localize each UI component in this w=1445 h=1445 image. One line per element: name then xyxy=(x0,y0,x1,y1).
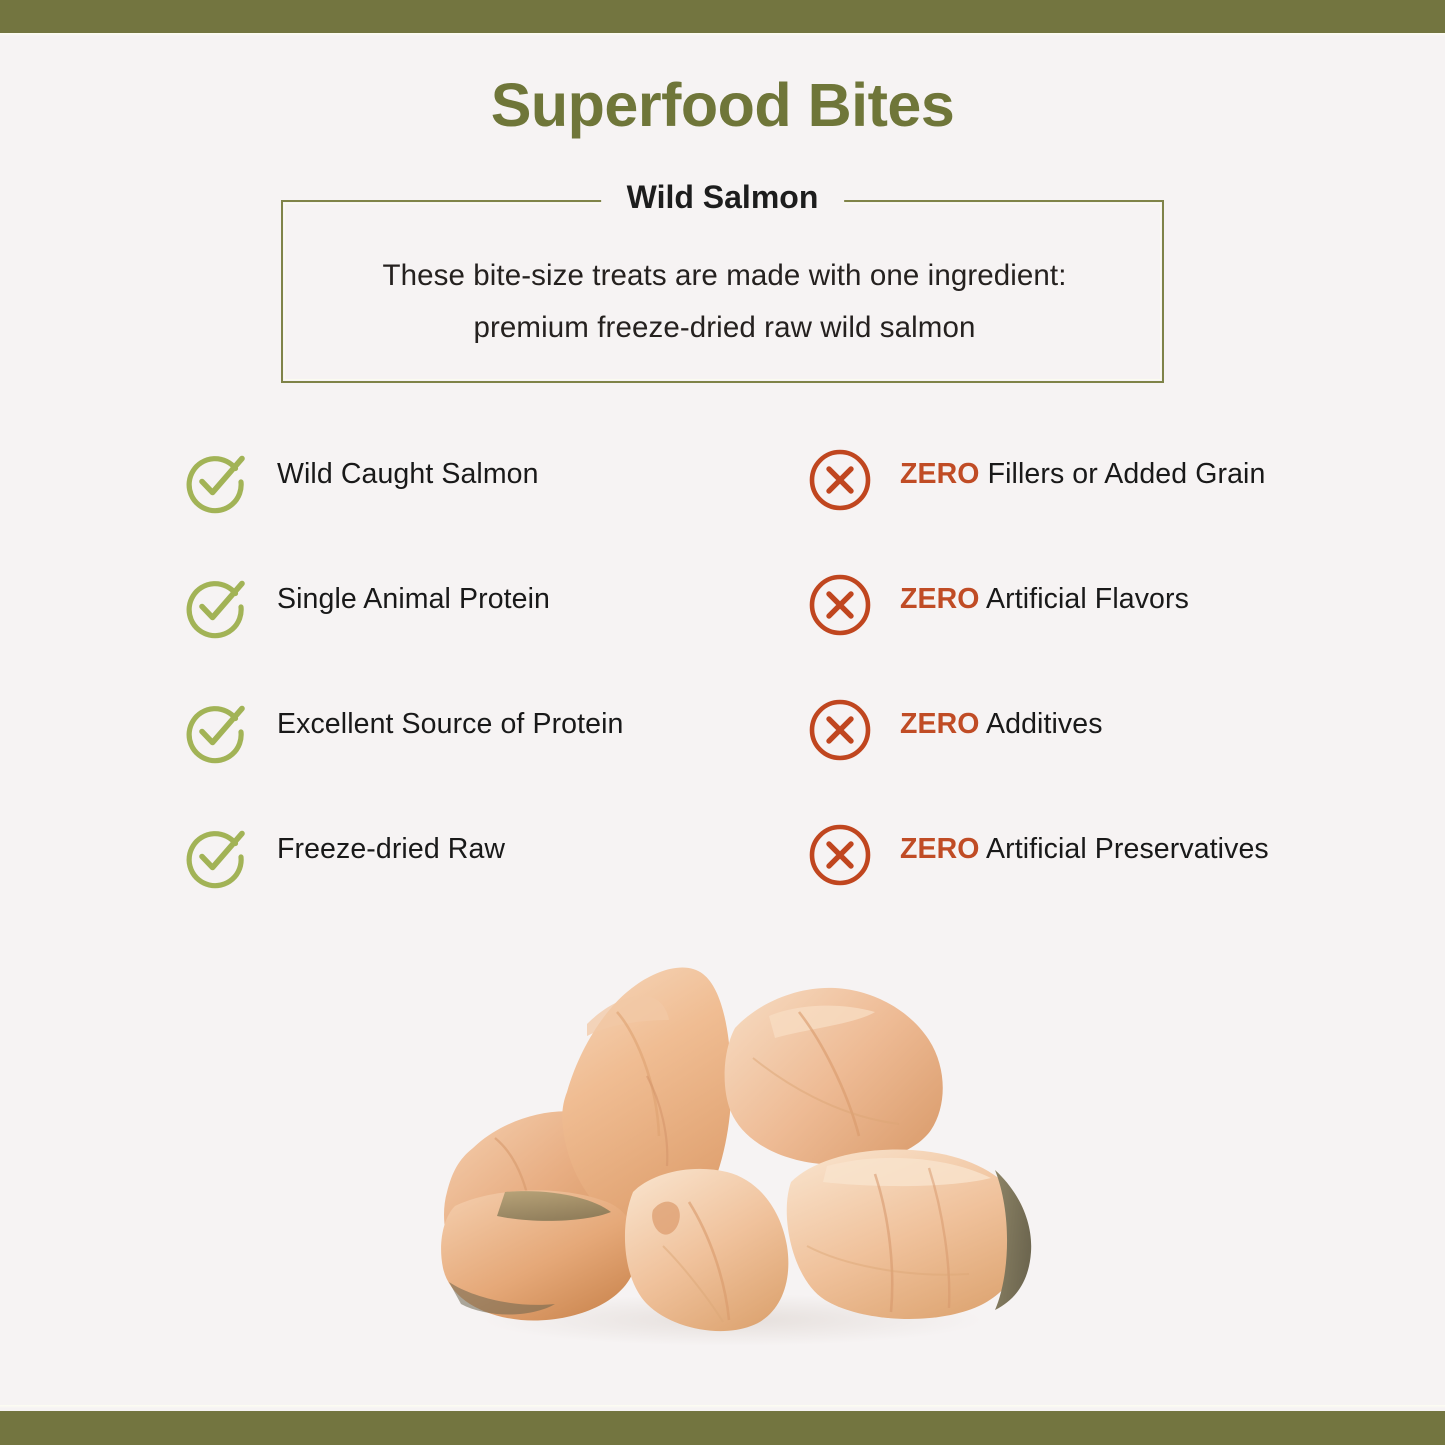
feature-label: ZERO Fillers or Added Grain xyxy=(900,458,1265,491)
intro-callout-box: Wild Salmon These bite-size treats are m… xyxy=(281,200,1164,383)
top-accent-bar xyxy=(0,0,1445,33)
feature-row-zero-artificial-flavors: ZERO Artificial Flavors xyxy=(808,563,1408,688)
x-circle-icon xyxy=(808,698,872,762)
zero-emphasis: ZERO xyxy=(900,583,980,615)
intro-line-1: These bite-size treats are made with one… xyxy=(283,250,1166,302)
feature-column-positives: Wild Caught Salmon Single Animal Protein xyxy=(185,438,755,938)
zero-emphasis: ZERO xyxy=(900,458,980,490)
feature-label-text: Artificial Flavors xyxy=(980,583,1189,615)
feature-label: Single Animal Protein xyxy=(277,583,550,616)
bottom-hairline xyxy=(0,1405,1445,1408)
check-circle-icon xyxy=(185,573,249,637)
x-circle-icon xyxy=(808,823,872,887)
check-circle-icon xyxy=(185,698,249,762)
feature-row-excellent-source-of-protein: Excellent Source of Protein xyxy=(185,688,755,813)
feature-label: ZERO Additives xyxy=(900,708,1103,741)
feature-label-text: Fillers or Added Grain xyxy=(980,458,1266,490)
product-photo xyxy=(355,916,1095,1356)
feature-label: Wild Caught Salmon xyxy=(277,458,539,491)
x-circle-icon xyxy=(808,573,872,637)
check-circle-icon xyxy=(185,448,249,512)
feature-row-zero-additives: ZERO Additives xyxy=(808,688,1408,813)
feature-label: ZERO Artificial Preservatives xyxy=(900,833,1269,866)
feature-label-text: Additives xyxy=(980,708,1103,740)
feature-row-single-animal-protein: Single Animal Protein xyxy=(185,563,755,688)
feature-grid: Wild Caught Salmon Single Animal Protein xyxy=(0,438,1445,908)
intro-description: These bite-size treats are made with one… xyxy=(283,250,1166,354)
feature-label: ZERO Artificial Flavors xyxy=(900,583,1189,616)
intro-line-2: premium freeze-dried raw wild salmon xyxy=(283,302,1166,354)
zero-emphasis: ZERO xyxy=(900,708,980,740)
x-circle-icon xyxy=(808,448,872,512)
check-circle-icon xyxy=(185,823,249,887)
feature-label: Excellent Source of Protein xyxy=(277,708,623,741)
feature-label: Freeze-dried Raw xyxy=(277,833,505,866)
zero-emphasis: ZERO xyxy=(900,833,980,865)
feature-column-negatives: ZERO Fillers or Added Grain ZERO Artific… xyxy=(808,438,1408,938)
infographic-canvas: Superfood Bites Wild Salmon These bite-s… xyxy=(0,36,1445,1405)
feature-label-text: Artificial Preservatives xyxy=(980,833,1269,865)
feature-row-wild-caught-salmon: Wild Caught Salmon xyxy=(185,438,755,563)
feature-row-zero-fillers: ZERO Fillers or Added Grain xyxy=(808,438,1408,563)
product-name-heading: Wild Salmon xyxy=(601,179,845,216)
bottom-accent-bar xyxy=(0,1411,1445,1445)
page-title: Superfood Bites xyxy=(0,70,1445,140)
